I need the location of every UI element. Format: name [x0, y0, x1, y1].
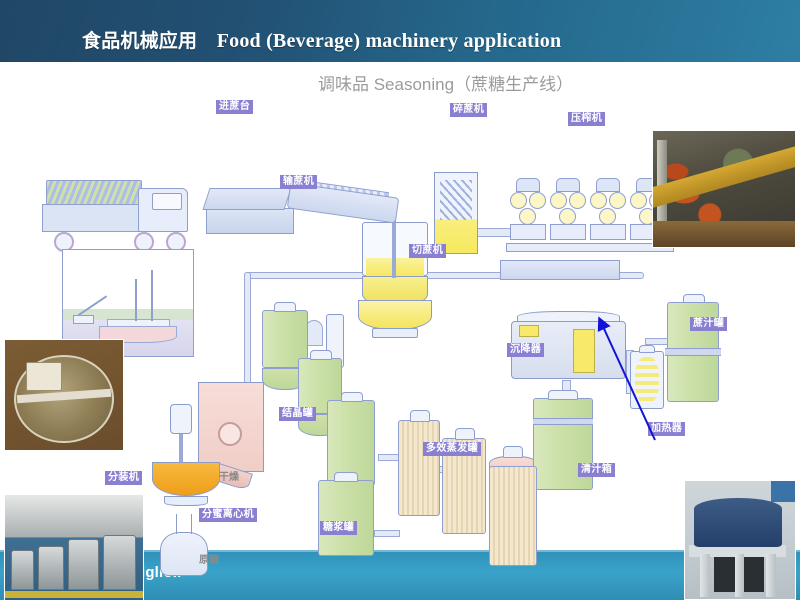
label-cane-press: 压榨机 — [568, 112, 605, 126]
evaporator-vessel — [489, 466, 537, 566]
press-gear-icon — [529, 192, 546, 209]
evaporator-vessel — [398, 420, 440, 516]
label-multi-effect-evaporator: 多效蒸发罐 — [423, 442, 481, 456]
press-gear-icon — [590, 192, 607, 209]
page-title-en: Food (Beverage) machinery application — [217, 30, 562, 52]
ship-mast — [151, 270, 153, 321]
photo-tower-tank — [694, 498, 782, 548]
photo-floor — [653, 221, 795, 247]
press-roller-unit — [550, 178, 586, 240]
juice-downcomer-pipe — [244, 272, 251, 392]
page-title-cn: 食品机械应用 — [82, 31, 197, 52]
settler-inlet-window — [519, 325, 539, 337]
packing-bowl — [152, 462, 220, 496]
press-roller-top — [596, 178, 620, 192]
label-cane-shredder: 碎蔗机 — [450, 103, 487, 117]
label-cane-juice-tank: 蔗汁罐 — [690, 317, 727, 331]
photo-honey-centrifuge — [4, 339, 124, 451]
photo-vessel — [38, 546, 64, 590]
syrup-tank-cap — [334, 472, 358, 482]
label-centrifugal-separator: 分蜜离心机 — [199, 508, 257, 522]
shredder-cane-fragments — [440, 180, 472, 220]
diagram-subtitle: 调味品 Seasoning（蔗糖生产线） — [318, 70, 573, 95]
evaporator-cap — [503, 446, 523, 458]
press-juice-tray — [590, 224, 626, 240]
heater-coil — [635, 357, 659, 403]
page-title: 食品机械应用 Food (Beverage) machinery applica… — [82, 26, 561, 53]
photo-tower-column — [735, 554, 745, 596]
photo-vessel — [11, 550, 34, 590]
shredder-outlet-pipe — [474, 228, 514, 237]
press-gear-icon — [630, 192, 647, 209]
label-cane-conveyor: 输蔗机 — [280, 175, 317, 189]
crystallizer-cap — [310, 350, 332, 360]
evaporator-cap — [455, 428, 475, 440]
heater-cap — [639, 345, 655, 353]
slide-body: 调味品 Seasoning（蔗糖生产线） — [0, 62, 800, 550]
cane-juice-tank-cap — [683, 294, 705, 303]
press-gear-icon — [559, 208, 576, 225]
press-juice-tray — [550, 224, 586, 240]
press-roller-top — [556, 178, 580, 192]
photo-vessel — [103, 535, 136, 590]
truck-bed — [42, 204, 144, 232]
photo-floor-stripe — [5, 591, 143, 599]
ship-deck — [107, 319, 169, 327]
syrup-outlet-pipe — [374, 530, 400, 537]
packing-bowl-base — [164, 496, 208, 506]
label-cane-feed-table: 进蔗台 — [216, 100, 253, 114]
raw-sugar-bag-sling — [176, 514, 192, 534]
ship-mast — [135, 279, 137, 321]
label-packing-machine: 分装机 — [105, 471, 142, 485]
photo-tower-column — [766, 554, 776, 596]
slide-root: 食品机械应用 Food (Beverage) machinery applica… — [0, 0, 800, 600]
photo-sky — [771, 481, 795, 502]
label-drying: 干燥 — [219, 468, 239, 483]
label-heater: 加热器 — [648, 422, 685, 436]
clear-juice-tank-cap — [548, 390, 578, 400]
syrup-tank — [318, 480, 374, 556]
photo-motor — [26, 362, 61, 391]
press-gear-icon — [599, 208, 616, 225]
label-clear-juice-tank: 清汁箱 — [578, 463, 615, 477]
photo-sugar-mill-plant — [652, 130, 796, 248]
label-crystallizer: 结晶罐 — [279, 407, 316, 421]
filling-head — [170, 404, 192, 434]
label-cane-cutter: 切蔗机 — [409, 244, 446, 258]
press-juice-tray — [510, 224, 546, 240]
cane-juice-tank-lower — [667, 354, 719, 402]
label-syrup-tank: 糖浆罐 — [320, 521, 357, 535]
cane-feed-table — [202, 188, 291, 210]
cane-press-tandem — [510, 174, 670, 252]
press-roller-unit — [510, 178, 546, 240]
press-base-rail — [506, 243, 674, 252]
dryer-rotor-icon — [218, 422, 242, 446]
label-settler: 沉降器 — [507, 343, 544, 357]
dock-crane-base — [73, 315, 94, 325]
bagasse-conveyor — [500, 260, 620, 280]
press-gear-icon — [609, 192, 626, 209]
photo-roof — [5, 495, 143, 537]
slide-header: 食品机械应用 Food (Beverage) machinery applica… — [0, 0, 800, 62]
press-roller-unit — [590, 178, 626, 240]
cutter-collection-bowl — [358, 300, 432, 330]
photo-vessel — [68, 539, 98, 590]
evaporator-cap — [410, 410, 430, 422]
photo-cooling-tower — [684, 480, 796, 600]
cutter-bowl-base — [372, 328, 418, 338]
label-raw-sugar: 原糖 — [199, 551, 219, 566]
press-roller-top — [516, 178, 540, 192]
cutter-shaft — [392, 218, 396, 278]
sugarcane-truck-illustration — [40, 174, 192, 256]
truck-cane-load — [46, 180, 142, 206]
photo-gantry-beam — [652, 142, 796, 210]
press-gear-icon — [569, 192, 586, 209]
crystallizer-cap — [274, 302, 296, 312]
press-gear-icon — [510, 192, 527, 209]
truck-window — [152, 193, 182, 210]
photo-centrifuge-hall — [4, 494, 144, 600]
cane-juice-tank-band — [665, 348, 721, 356]
press-gear-icon — [519, 208, 536, 225]
cane-feed-table-base — [206, 208, 294, 234]
clear-juice-tank-band — [533, 418, 593, 425]
crystallizer-cap — [341, 392, 363, 402]
press-gear-icon — [550, 192, 567, 209]
photo-tower-column — [700, 554, 710, 596]
settler-level-window — [573, 329, 595, 373]
juice-heater — [630, 345, 664, 411]
